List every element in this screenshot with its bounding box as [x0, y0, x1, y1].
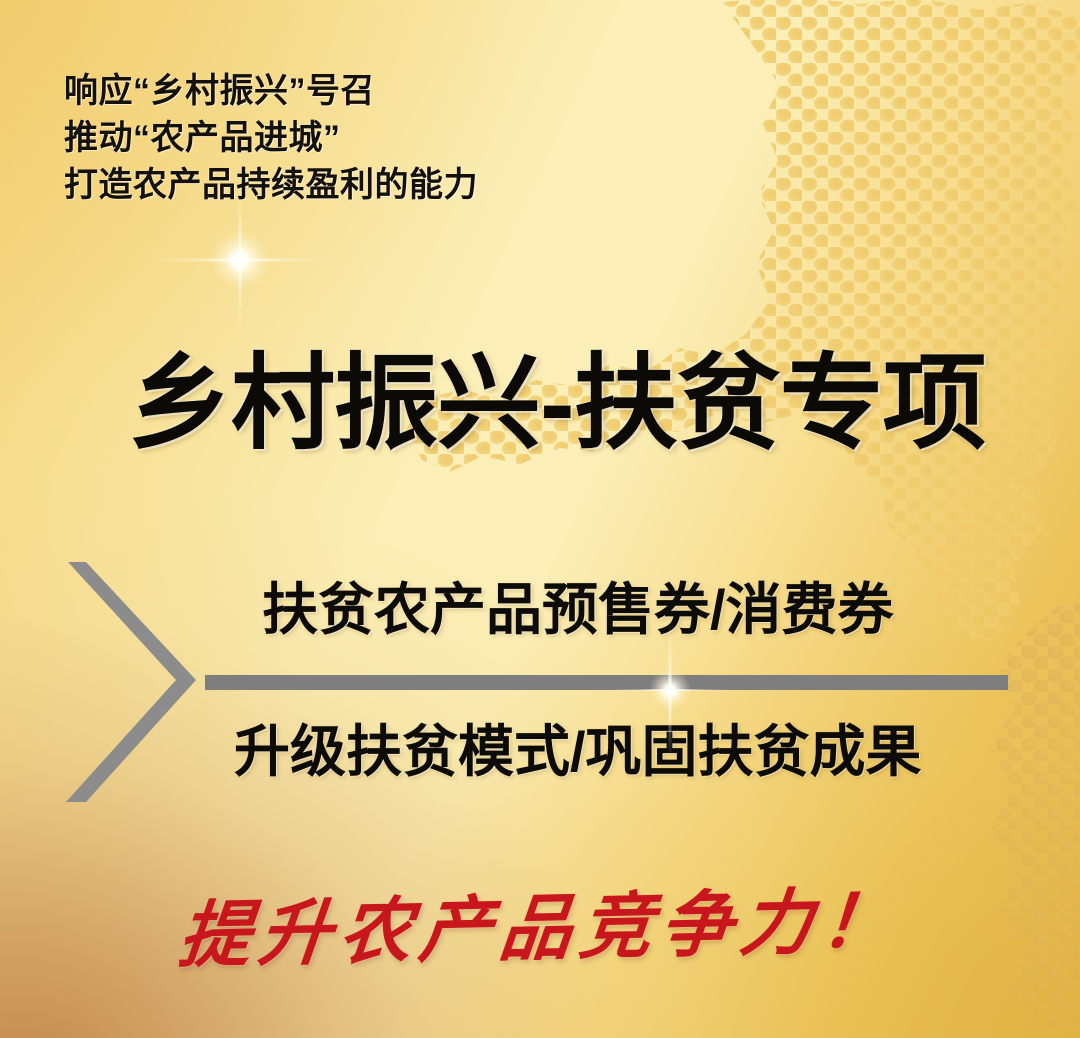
sparkle-ray-horizontal: [153, 259, 328, 262]
claim-line-1: 扶贫农产品预售券/消费券: [262, 575, 1080, 645]
claims-block: 扶贫农产品预售券/消费券 升级扶贫模式/巩固扶贫成果: [0, 575, 1080, 787]
headline-line-1: 响应“乡村振兴”号召: [64, 68, 478, 115]
main-title: 乡村振兴-扶贫专项: [128, 344, 986, 464]
promo-poster: 响应“乡村振兴”号召 推动“农产品进城” 打造农产品持续盈利的能力 乡村振兴-扶…: [0, 0, 1080, 1038]
claim-line-2: 升级扶贫模式/巩固扶贫成果: [234, 717, 1080, 787]
headline-block: 响应“乡村振兴”号召 推动“农产品进城” 打造农产品持续盈利的能力: [64, 68, 478, 209]
divider-bar: [205, 675, 1008, 690]
sparkle-core: [211, 231, 269, 289]
slogan-text: 提升农产品竞争力！: [174, 872, 905, 983]
slogan-block: 提升农产品竞争力！: [0, 880, 1080, 976]
headline-line-2: 推动“农产品进城”: [64, 115, 478, 162]
headline-line-3: 打造农产品持续盈利的能力: [64, 162, 478, 209]
